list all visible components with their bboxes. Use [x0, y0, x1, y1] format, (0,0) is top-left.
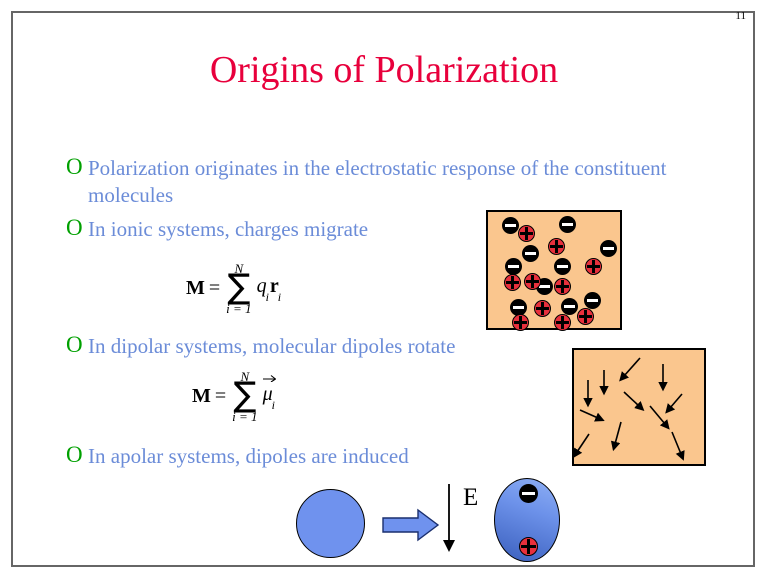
bullet-item-3: O In dipolar systems, molecular dipoles … [66, 333, 566, 360]
equation-2-term: μi [263, 383, 276, 409]
negative-ion [584, 292, 601, 309]
bullet-label-3: In dipolar systems, molecular dipoles ro… [88, 333, 455, 360]
dipole-arrow [580, 410, 598, 418]
dipole-arrow [624, 358, 640, 376]
positive-ion [504, 274, 521, 291]
positive-ion [554, 278, 571, 295]
bullet-item-4: O In apolar systems, dipoles are induced [66, 443, 526, 470]
negative-ion [600, 240, 617, 257]
bullet-label-4: In apolar systems, dipoles are induced [88, 443, 409, 470]
bullet-marker-icon: O [66, 216, 88, 239]
equation-dipole-moment-charges: M = N ∑ i = 1 qiri [186, 262, 282, 315]
negative-ion [505, 258, 522, 275]
electric-field-arrow-icon [438, 482, 460, 554]
neutral-atom-sphere [296, 489, 365, 558]
positive-ion [548, 238, 565, 255]
dipole-arrow [672, 432, 681, 454]
page-title: Origins of Polarization [0, 50, 768, 92]
bullet-label-1: Polarization originates in the electrost… [88, 155, 706, 209]
bullet-label-2: In ionic systems, charges migrate [88, 216, 368, 243]
negative-ion [522, 245, 539, 262]
right-block-arrow-icon [382, 508, 440, 542]
negative-ion [519, 484, 538, 503]
dipole-arrow [670, 394, 682, 408]
sigma-icon: ∑ [233, 381, 256, 411]
bullet-item-2: O In ionic systems, charges migrate [66, 216, 486, 243]
dipole-arrow [577, 434, 589, 452]
positive-ion [577, 308, 594, 325]
equation-2-summation: N ∑ i = 1 [232, 370, 257, 423]
equation-2-lhs: M [192, 385, 211, 408]
equation-1-relation: = [209, 277, 220, 300]
bullet-item-1: O Polarization originates in the electro… [66, 155, 706, 209]
equation-2-mu-sub: i [272, 398, 275, 412]
equation-dipole-moment-dipoles: M = N ∑ i = 1 μi [192, 370, 276, 423]
induced-dipole-figure: E [290, 478, 590, 573]
equation-1-summation: N ∑ i = 1 [226, 262, 251, 315]
positive-ion [524, 273, 541, 290]
negative-ion [559, 216, 576, 233]
equation-1-charge-sub: i [266, 290, 269, 304]
equation-1-lhs: M [186, 277, 205, 300]
dipole-arrows-group [574, 350, 704, 464]
electric-field-label: E [463, 484, 478, 512]
sigma-icon: ∑ [227, 273, 250, 303]
equation-1-term: qiri [257, 275, 283, 301]
bullet-marker-icon: O [66, 155, 88, 178]
dipole-arrow [650, 406, 665, 424]
equation-1-position-sub: i [278, 290, 281, 304]
negative-ion [561, 298, 578, 315]
positive-ion [534, 300, 551, 317]
dipole-arrow-set [577, 358, 682, 454]
equation-1-sum-lower: i = 1 [226, 302, 251, 315]
vector-arrow-icon [263, 374, 276, 382]
positive-ion [519, 537, 538, 556]
ionic-lattice-figure [486, 210, 622, 330]
equation-2-sum-lower: i = 1 [232, 410, 257, 423]
dipole-rotation-figure [572, 348, 706, 466]
positive-ion [518, 225, 535, 242]
slide-canvas: 11 Origins of Polarization O Polarizatio… [0, 0, 768, 576]
bullet-marker-icon: O [66, 333, 88, 356]
negative-ion [502, 217, 519, 234]
bullet-marker-icon: O [66, 443, 88, 466]
page-number: 11 [735, 10, 746, 22]
negative-ion [554, 258, 571, 275]
positive-ion [585, 258, 602, 275]
positive-ion [554, 314, 571, 331]
polarized-atom-sphere [494, 478, 560, 562]
dipole-arrow [624, 392, 639, 406]
equation-2-relation: = [215, 385, 226, 408]
positive-ion [512, 314, 529, 331]
dipole-arrow [615, 422, 621, 444]
